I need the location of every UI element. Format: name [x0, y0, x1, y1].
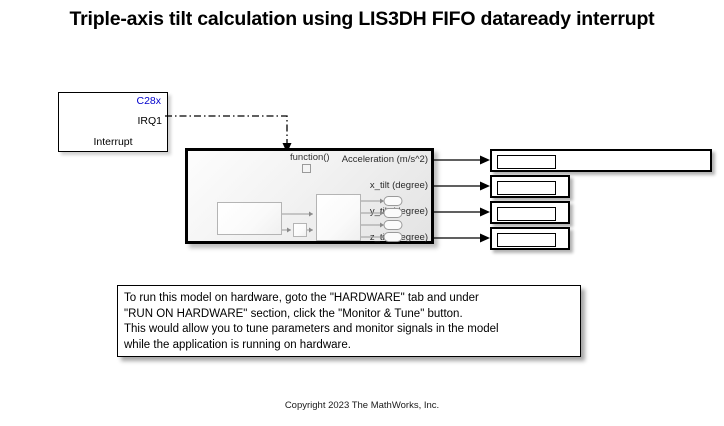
subsystem-output-label-y-tilt: y_tilt (degree): [370, 206, 428, 217]
trigger-signal-path: [165, 116, 287, 144]
irq1-output-port-label: IRQ1: [137, 115, 162, 127]
z-tilt-display-block[interactable]: [490, 227, 570, 250]
annotation-line-2: "RUN ON HARDWARE" section, click the "Mo…: [124, 307, 574, 323]
function-call-port-icon: [302, 164, 311, 173]
subsystem-output-label-z-tilt: z_tilt (degree): [370, 232, 428, 243]
x-tilt-display-block[interactable]: [490, 175, 570, 198]
annotation-line-1: To run this model on hardware, goto the …: [124, 291, 574, 307]
subsystem-preview-compute-block: [316, 194, 361, 241]
c28x-interrupt-block[interactable]: C28x IRQ1 Interrupt: [58, 92, 168, 152]
page-title: Triple-axis tilt calculation using LIS3D…: [0, 8, 724, 31]
y-tilt-display-block[interactable]: [490, 201, 570, 224]
interrupt-block-label: Interrupt: [59, 136, 167, 148]
subsystem-output-label-acceleration: Acceleration (m/s^2): [342, 154, 428, 165]
acceleration-display-block[interactable]: [490, 149, 712, 172]
copyright-notice: Copyright 2023 The MathWorks, Inc.: [0, 400, 724, 411]
c28x-vendor-label: C28x: [136, 95, 161, 107]
subsystem-preview-source-block: [217, 202, 282, 235]
subsystem-output-signal-lines: [434, 148, 494, 248]
subsystem-output-label-x-tilt: x_tilt (degree): [370, 180, 428, 191]
annotation-line-3: This would allow you to tune parameters …: [124, 322, 574, 338]
subsystem-preview-small-block: [293, 223, 307, 237]
hardware-instructions-annotation[interactable]: To run this model on hardware, goto the …: [117, 285, 581, 357]
z-tilt-display-value: [497, 233, 556, 247]
function-call-port-label: function(): [290, 152, 330, 163]
x-tilt-display-value: [497, 181, 556, 195]
annotation-line-4: while the application is running on hard…: [124, 338, 574, 354]
tilt-calculation-subsystem[interactable]: function() Acceleration (m/s^2) x_tilt (…: [185, 148, 434, 244]
y-tilt-display-value: [497, 207, 556, 221]
acceleration-display-value: [497, 155, 556, 169]
